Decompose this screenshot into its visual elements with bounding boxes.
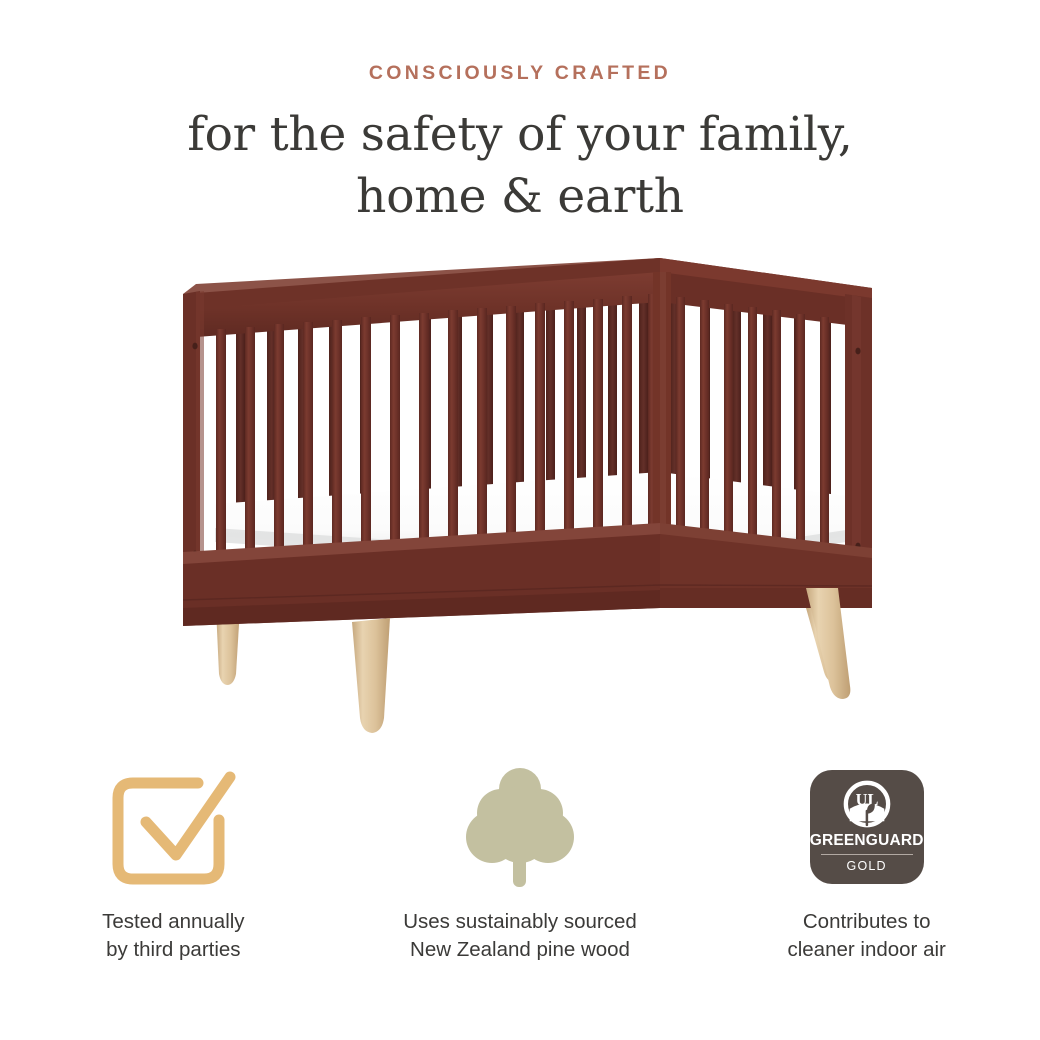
feature-caption: Uses sustainably sourced New Zealand pin…: [403, 908, 637, 964]
greenguard-name: GREENGUARD: [810, 832, 924, 850]
feature-caption: Contributes to cleaner indoor air: [787, 908, 945, 964]
checkbox-check-icon: [106, 764, 240, 890]
feature-sustainable-wood: Uses sustainably sourced New Zealand pin…: [347, 764, 694, 994]
crib-leg-front-left: [352, 618, 390, 733]
feature-caption: Tested annually by third parties: [102, 908, 244, 964]
feature-caption-line-1: Uses sustainably sourced: [403, 908, 637, 936]
feature-tested-annually: Tested annually by third parties: [0, 764, 347, 994]
greenguard-level: GOLD: [847, 859, 887, 873]
tree-icon: [465, 764, 575, 890]
screw-hole: [855, 348, 860, 355]
page-title: for the safety of your family, home & ea…: [0, 104, 1040, 228]
feature-row: Tested annually by third parties: [0, 764, 1040, 994]
ul-mark-icon: UL: [842, 779, 892, 829]
feature-greenguard: UL GREENGUARD GOLD Contributes to cleane…: [693, 764, 1040, 994]
eyebrow-text: CONSCIOUSLY CRAFTED: [0, 62, 1040, 85]
headline-line-1: for the safety of your family,: [0, 104, 1040, 166]
product-image-crib: [0, 236, 1040, 756]
greenguard-badge: UL GREENGUARD GOLD: [810, 770, 924, 884]
greenguard-divider: [821, 854, 913, 855]
feature-caption-line-2: by third parties: [102, 936, 244, 964]
feature-caption-line-1: Contributes to: [787, 908, 945, 936]
marketing-image: CONSCIOUSLY CRAFTED for the safety of yo…: [0, 0, 1040, 1040]
feature-caption-line-2: cleaner indoor air: [787, 936, 945, 964]
feature-caption-line-1: Tested annually: [102, 908, 244, 936]
svg-text:UL: UL: [855, 790, 878, 809]
feature-caption-line-2: New Zealand pine wood: [403, 936, 637, 964]
greenguard-gold-badge-icon: UL GREENGUARD GOLD: [810, 764, 924, 890]
screw-hole: [192, 343, 197, 350]
headline-line-2: home & earth: [0, 166, 1040, 228]
